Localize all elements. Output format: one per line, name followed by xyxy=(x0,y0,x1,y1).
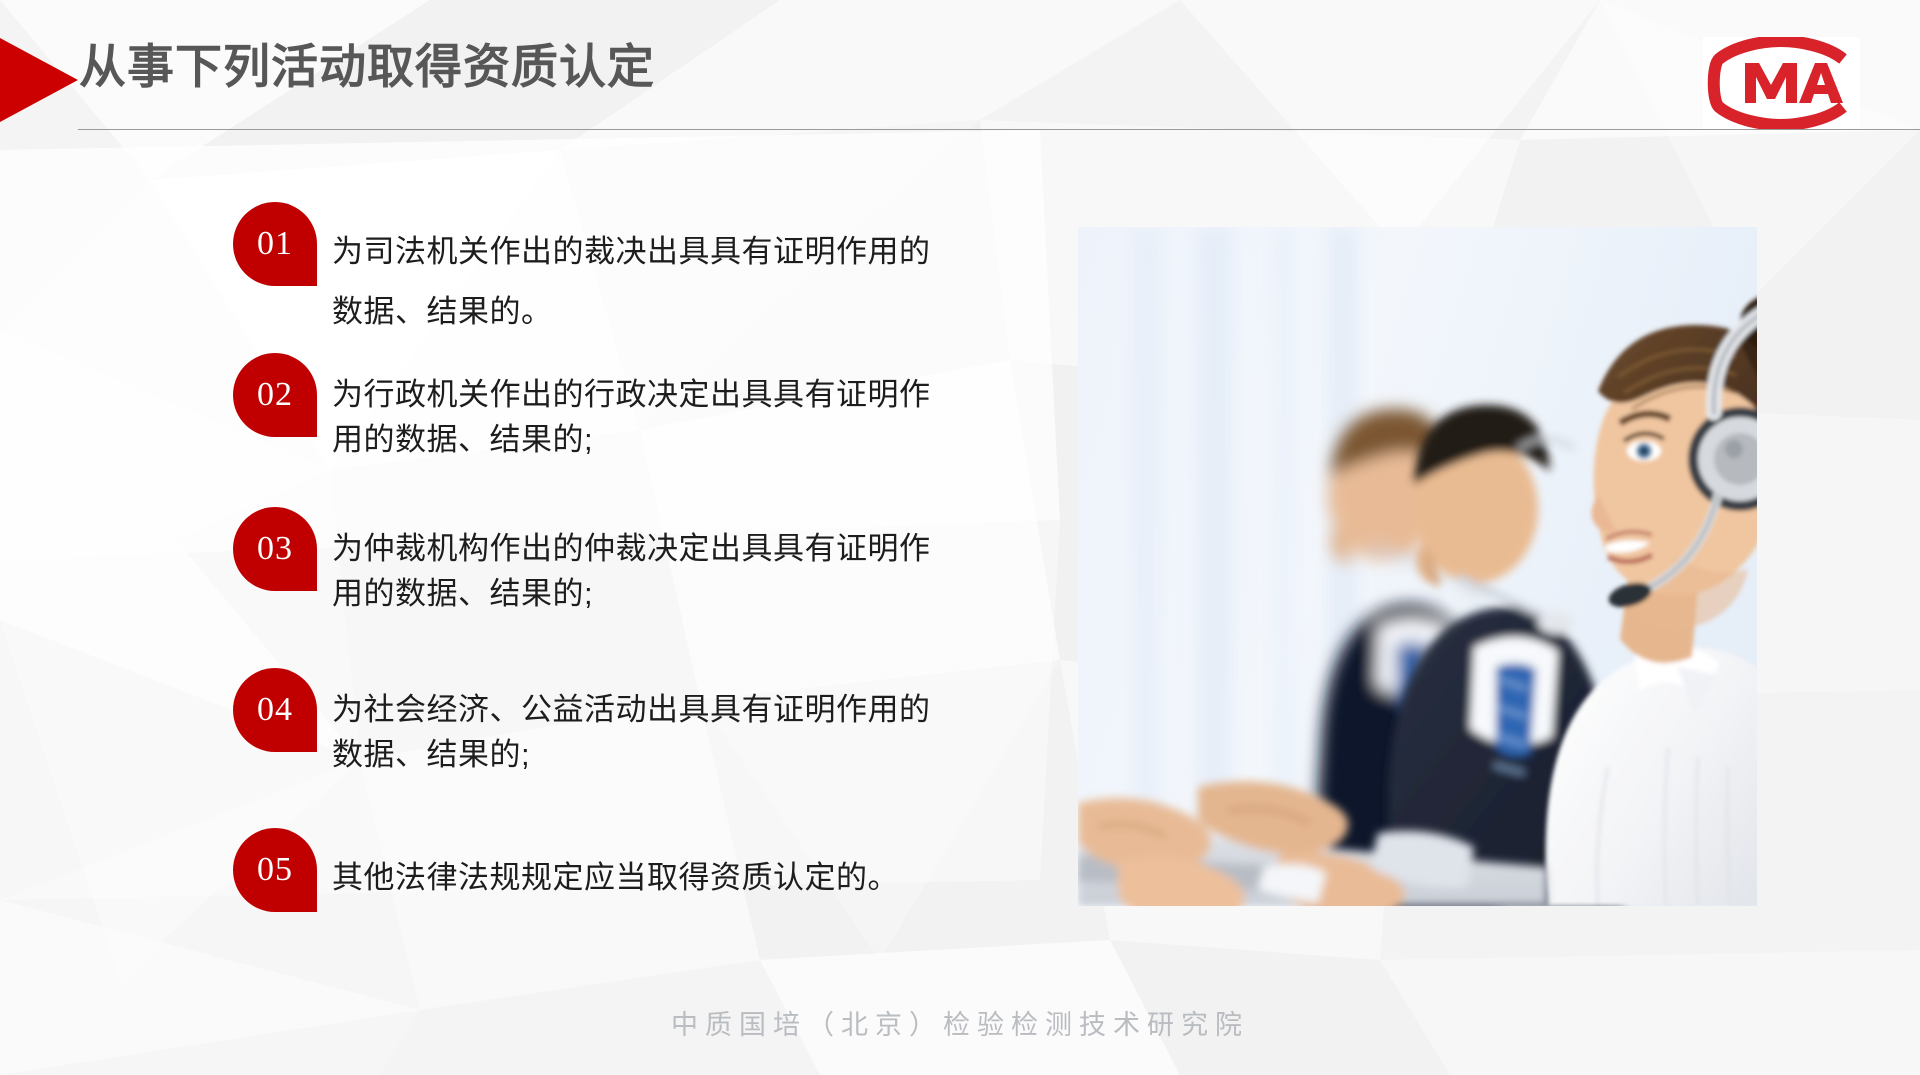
list-item-line: 为司法机关作出的裁决出具具有证明作用的 xyxy=(332,222,982,282)
call-center-photo-illustration xyxy=(1078,227,1757,906)
list-item-text: 为仲裁机构作出的仲裁决定出具具有证明作 用的数据、结果的; xyxy=(332,526,987,616)
slide-canvas: 从事下列活动取得资质认定 01 为司法机关作出的裁决出具具有证明作用的 数据、结… xyxy=(0,0,1920,1075)
list-item-line: 为仲裁机构作出的仲裁决定出具具有证明作 xyxy=(332,526,987,571)
list-item-badge: 04 xyxy=(233,668,317,752)
list-item-line: 其他法律法规规定应当取得资质认定的。 xyxy=(332,855,987,900)
cma-logo xyxy=(1703,37,1860,129)
list-item-text: 为社会经济、公益活动出具具有证明作用的 数据、结果的; xyxy=(332,687,987,777)
list-item-badge: 01 xyxy=(233,202,317,286)
list-item-badge: 02 xyxy=(233,353,317,437)
footer-organization: 中质国培（北京）检验检测技术研究院 xyxy=(0,1003,1920,1042)
list-item-line: 为社会经济、公益活动出具具有证明作用的 xyxy=(332,687,987,732)
list-item-text: 为司法机关作出的裁决出具具有证明作用的 数据、结果的。 xyxy=(332,222,982,342)
list-item-badge: 05 xyxy=(233,828,317,912)
list-item-line: 数据、结果的。 xyxy=(332,282,982,342)
list-item-badge: 03 xyxy=(233,507,317,591)
list-item-line: 用的数据、结果的; xyxy=(332,571,987,616)
list-item-line: 数据、结果的; xyxy=(332,732,987,777)
list-item-line: 为行政机关作出的行政决定出具具有证明作 xyxy=(332,372,987,417)
activity-list: 01 为司法机关作出的裁决出具具有证明作用的 数据、结果的。 02 为行政机关作… xyxy=(0,0,1100,1075)
list-item-line: 用的数据、结果的; xyxy=(332,417,987,462)
list-item-text: 其他法律法规规定应当取得资质认定的。 xyxy=(332,855,987,900)
list-item-text: 为行政机关作出的行政决定出具具有证明作 用的数据、结果的; xyxy=(332,372,987,462)
call-center-photo xyxy=(1078,227,1757,906)
cma-logo-mark xyxy=(1703,37,1860,129)
